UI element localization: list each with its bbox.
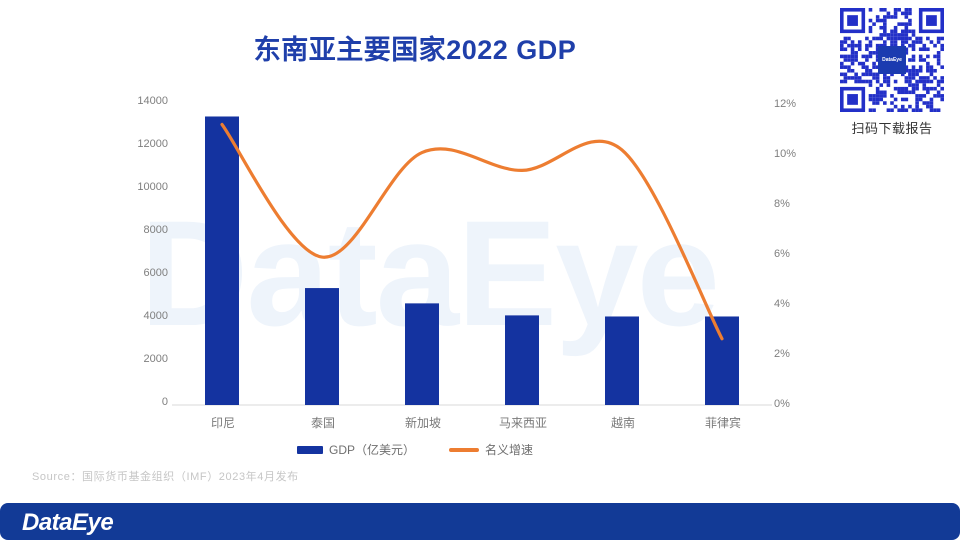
qr-block: DataEye 扫码下载报告 [836,8,948,137]
footer-brand-bar: DataEye [0,503,960,540]
x-category-5: 菲律宾 [673,414,773,431]
bar-series [205,116,739,405]
legend-line-swatch-icon [449,448,479,452]
qr-code-icon[interactable]: DataEye [840,8,944,112]
bar-新加坡[interactable] [405,303,439,405]
legend-item-gdp[interactable]: GDP（亿美元） [297,441,415,458]
bar-菲律宾[interactable] [705,316,739,405]
x-category-1: 泰国 [273,414,373,431]
bar-印尼[interactable] [205,116,239,405]
x-category-4: 越南 [573,414,673,431]
chart-svg [0,0,960,480]
qr-center-logo: DataEye [878,46,906,74]
legend-label-gdp: GDP（亿美元） [329,441,415,458]
bar-泰国[interactable] [305,288,339,405]
legend-item-growth[interactable]: 名义增速 [449,441,533,458]
line-series [222,125,722,339]
bar-越南[interactable] [605,316,639,405]
footer-logo: DataEye [22,509,113,537]
legend-label-growth: 名义增速 [485,441,533,458]
chart-legend: GDP（亿美元） 名义增速 [0,441,830,458]
x-category-3: 马来西亚 [473,414,573,431]
x-category-2: 新加坡 [373,414,473,431]
legend-bar-swatch-icon [297,446,323,454]
source-note: Source：国际货币基金组织（IMF）2023年4月发布 [32,468,299,484]
chart-plot-area: 0 2000 4000 6000 8000 10000 12000 14000 … [0,0,960,480]
x-category-0: 印尼 [173,414,273,431]
qr-caption: 扫码下载报告 [836,118,948,137]
bar-马来西亚[interactable] [505,315,539,405]
